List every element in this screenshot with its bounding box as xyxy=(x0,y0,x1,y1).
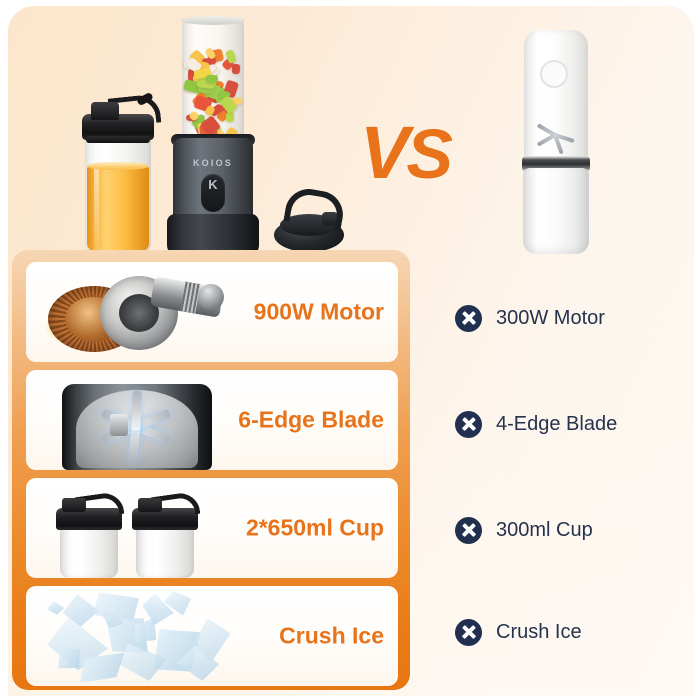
cross-icon xyxy=(455,411,482,438)
comparison-list: 300W Motor 4-Edge Blade 300ml Cup Crush … xyxy=(455,250,685,690)
cross-icon xyxy=(455,305,482,332)
feature-label-cups: 2*650ml Cup xyxy=(246,515,384,542)
feature-card-list: 900W Motor 6-Edge xyxy=(26,262,398,694)
feature-card-motor: 900W Motor xyxy=(26,262,398,362)
feature-label-ice: Crush Ice xyxy=(279,623,384,650)
vs-label: VS xyxy=(360,116,450,190)
feature-card-ice: Crush Ice xyxy=(26,586,398,686)
k-logo-glyph: K xyxy=(201,177,225,192)
feature-label-blade: 6-Edge Blade xyxy=(238,407,384,434)
motor-photo xyxy=(32,262,237,362)
feature-card-blade: 6-Edge Blade xyxy=(26,370,398,470)
feature-label-motor: 900W Motor xyxy=(254,299,384,326)
koios-blender-photo: KOIOS K xyxy=(60,18,350,253)
comparison-row-blade: 4-Edge Blade xyxy=(455,408,617,440)
fruit-cup-image xyxy=(182,18,244,146)
cross-icon xyxy=(455,517,482,544)
competitor-blender-photo xyxy=(518,30,594,255)
cups-photo xyxy=(32,478,237,578)
spout-lid-image xyxy=(270,188,348,254)
sport-bottle-image xyxy=(85,96,151,254)
mini-blade-icon xyxy=(536,122,576,148)
feature-card-cups: 2*650ml Cup xyxy=(26,478,398,578)
competitor-power-button xyxy=(540,60,568,88)
blade-photo xyxy=(32,370,237,470)
main-blender-image: KOIOS K xyxy=(165,18,261,266)
power-button: K xyxy=(201,174,225,212)
cross-icon xyxy=(455,619,482,646)
comparison-row-cup: 300ml Cup xyxy=(455,514,593,546)
comparison-row-ice: Crush Ice xyxy=(455,616,582,648)
vs-letter-v: V xyxy=(360,111,406,194)
comparison-label-blade: 4-Edge Blade xyxy=(496,413,617,436)
comparison-row-motor: 300W Motor xyxy=(455,302,605,334)
vs-letter-s: S xyxy=(406,115,450,193)
comparison-label-motor: 300W Motor xyxy=(496,307,605,330)
brand-label: KOIOS xyxy=(165,158,261,168)
comparison-label-cup: 300ml Cup xyxy=(496,519,593,542)
comparison-label-ice: Crush Ice xyxy=(496,621,582,644)
ice-photo xyxy=(32,586,237,686)
comparison-infographic: KOIOS K VS xyxy=(0,0,700,700)
